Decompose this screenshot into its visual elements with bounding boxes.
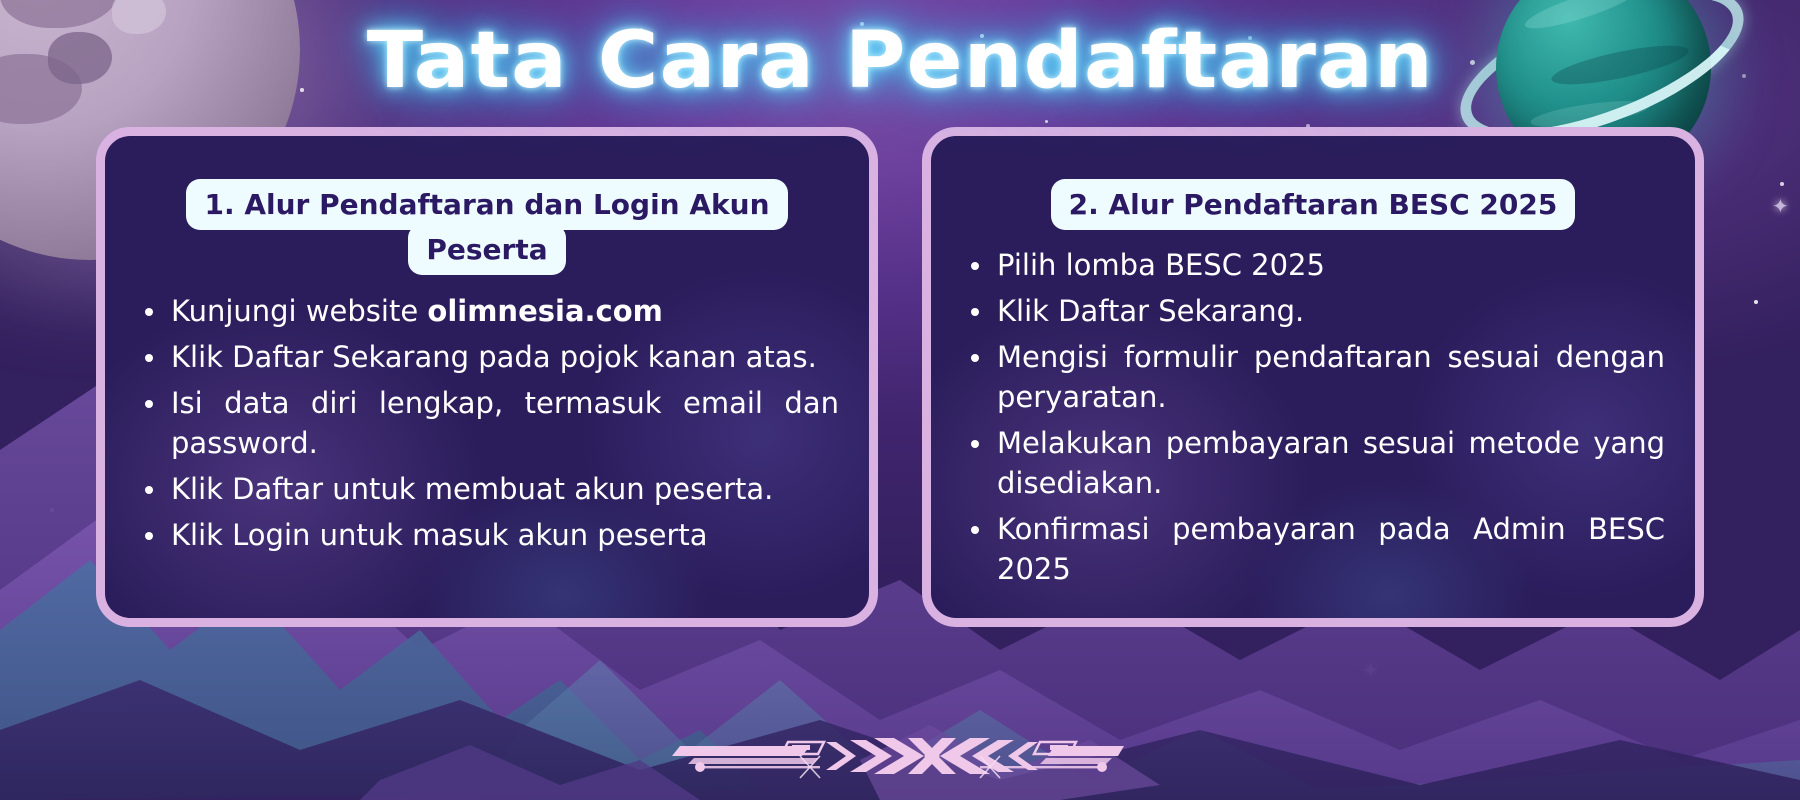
list-item: Pilih lomba BESC 2025 xyxy=(967,245,1665,285)
card-heading-wrapper: 1. Alur Pendaftaran dan Login Akun Peser… xyxy=(131,182,843,273)
step-text: Klik Daftar untuk membuat akun peserta. xyxy=(171,472,773,506)
step-emphasis: olimnesia.com xyxy=(427,294,662,328)
card-alur-pendaftaran-besc: 2. Alur Pendaftaran BESC 2025 Pilih lomb… xyxy=(922,127,1704,627)
list-item: Klik Login untuk masuk akun peserta xyxy=(141,515,839,555)
list-item: Klik Daftar Sekarang. xyxy=(967,291,1665,331)
step-text: Klik Login untuk masuk akun peserta xyxy=(171,518,708,552)
steps-list-left: Kunjungi website olimnesia.com Klik Daft… xyxy=(141,291,839,555)
step-text: Mengisi formulir pendaftaran sesuai deng… xyxy=(997,340,1665,414)
step-text: Pilih lomba BESC 2025 xyxy=(997,248,1325,282)
list-item: Klik Daftar Sekarang pada pojok kanan at… xyxy=(141,337,839,377)
sci-fi-chevron-divider-icon xyxy=(660,726,1140,790)
card-heading-wrapper: 2. Alur Pendaftaran BESC 2025 xyxy=(957,182,1669,227)
page-title: Tata Cara Pendaftaran xyxy=(367,16,1434,106)
step-text: Klik Daftar Sekarang pada pojok kanan at… xyxy=(171,340,817,374)
list-item: Melakukan pembayaran sesuai metode yang … xyxy=(967,423,1665,503)
card-heading-pill: 1. Alur Pendaftaran dan Login Akun Peser… xyxy=(186,179,787,275)
steps-list-right: Pilih lomba BESC 2025 Klik Daftar Sekara… xyxy=(967,245,1665,589)
step-text: Konfirmasi pembayaran pada Admin BESC 20… xyxy=(997,512,1665,586)
cards-container: 1. Alur Pendaftaran dan Login Akun Peser… xyxy=(96,127,1704,627)
step-text: Isi data diri lengkap, termasuk email da… xyxy=(171,386,839,460)
card-alur-pendaftaran-login: 1. Alur Pendaftaran dan Login Akun Peser… xyxy=(96,127,878,627)
step-text: Kunjungi website xyxy=(171,294,427,328)
page-title-row: Tata Cara Pendaftaran xyxy=(0,16,1800,106)
step-text: Melakukan pembayaran sesuai metode yang … xyxy=(997,426,1665,500)
card-heading-pill: 2. Alur Pendaftaran BESC 2025 xyxy=(1051,179,1576,230)
list-item: Klik Daftar untuk membuat akun peserta. xyxy=(141,469,839,509)
list-item: Mengisi formulir pendaftaran sesuai deng… xyxy=(967,337,1665,417)
list-item: Konfirmasi pembayaran pada Admin BESC 20… xyxy=(967,509,1665,589)
step-text: Klik Daftar Sekarang. xyxy=(997,294,1304,328)
list-item: Kunjungi website olimnesia.com xyxy=(141,291,839,331)
list-item: Isi data diri lengkap, termasuk email da… xyxy=(141,383,839,463)
